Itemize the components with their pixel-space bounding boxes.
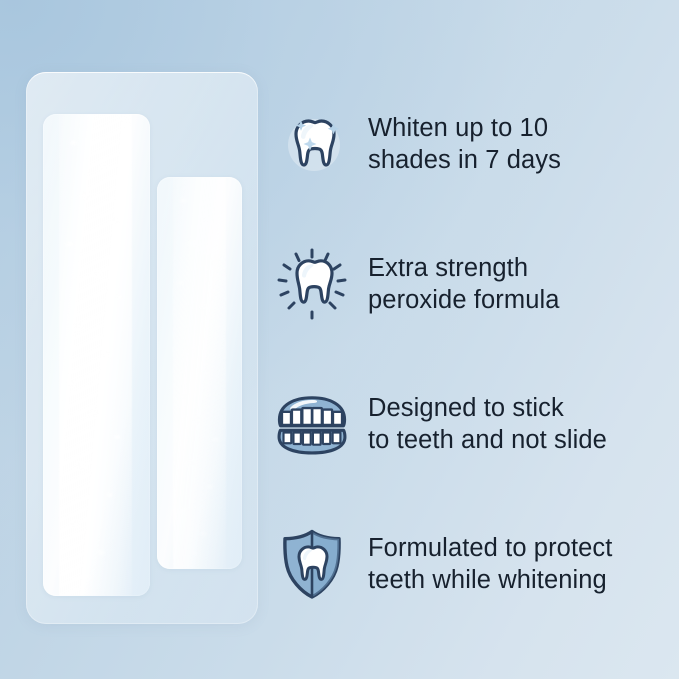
- feature-item-extra-strength: Extra strength peroxide formula: [274, 214, 666, 354]
- feature-label: Extra strength peroxide formula: [368, 252, 560, 316]
- shield-tooth-icon: [274, 526, 350, 602]
- product-infographic: Whiten up to 10 shades in 7 days: [0, 0, 679, 679]
- feature-label: Formulated to protect teeth while whiten…: [368, 532, 612, 596]
- shining-tooth-icon: [274, 246, 350, 322]
- feature-item-enamel-protection: Formulated to protect teeth while whiten…: [274, 494, 666, 634]
- strip-sheen: [43, 114, 150, 596]
- feature-label: Designed to stick to teeth and not slide: [368, 392, 607, 456]
- sparkling-tooth-icon: [274, 106, 350, 182]
- upper-whitening-strip: [43, 114, 150, 596]
- feature-item-stays-in-place: Designed to stick to teeth and not slide: [274, 354, 666, 494]
- strip-sheen: [157, 177, 242, 569]
- feature-item-whitening-shades: Whiten up to 10 shades in 7 days: [274, 74, 666, 214]
- feature-label: Whiten up to 10 shades in 7 days: [368, 112, 561, 176]
- lower-whitening-strip: [157, 177, 242, 569]
- product-image: [26, 72, 258, 624]
- feature-list: Whiten up to 10 shades in 7 days: [274, 74, 666, 634]
- dentures-icon: [274, 386, 350, 462]
